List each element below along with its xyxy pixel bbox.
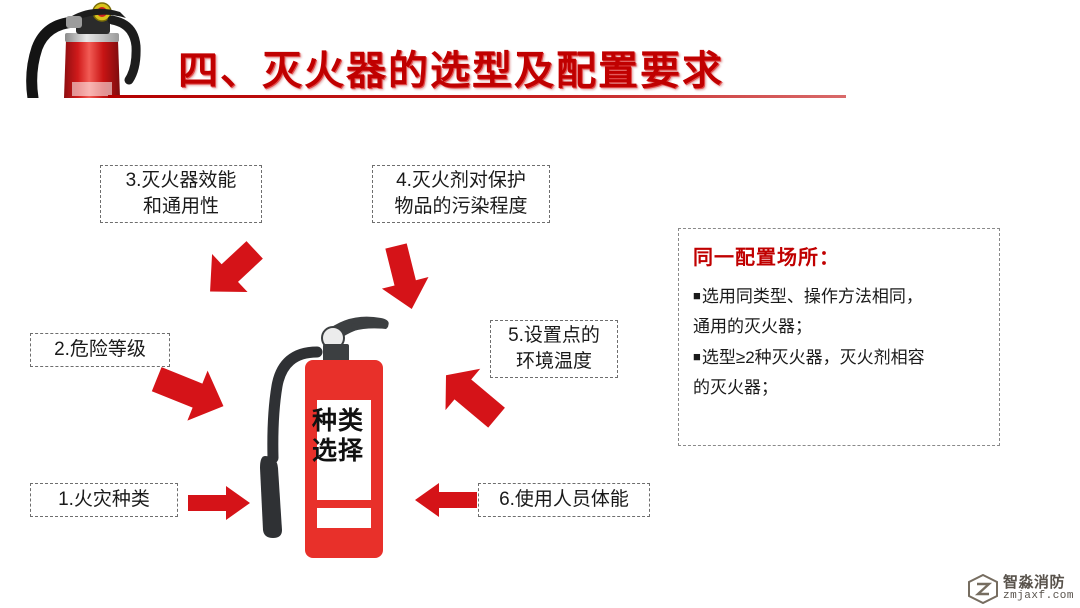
factor-box-4[interactable]: 4.灭火剂对保护 物品的污染程度 xyxy=(372,165,550,223)
note-panel: 同一配置场所： ■选用同类型、操作方法相同， 通用的灭火器； ■选型≥2种灭火器… xyxy=(678,228,1000,446)
page-title: 四、灭火器的选型及配置要求 xyxy=(178,38,724,96)
note-bullet-2-cont: 的灭火器； xyxy=(693,373,985,403)
slide-canvas: 四、灭火器的选型及配置要求 3.灭火器效能 和通用性 4.灭火剂对保护 物品的污… xyxy=(0,0,1080,608)
watermark-brand-name: 智淼消防 xyxy=(1003,575,1074,591)
factor-box-3[interactable]: 3.灭火器效能 和通用性 xyxy=(100,165,262,223)
title-underline-rule xyxy=(108,95,846,98)
watermark-url: zmjaxf.com xyxy=(1003,591,1074,603)
central-extinguisher-graphic xyxy=(255,308,415,563)
factor-box-6[interactable]: 6.使用人员体能 xyxy=(478,483,650,517)
watermark: 智淼消防 zmjaxf.com xyxy=(968,574,1074,604)
note-bullet-1: ■选用同类型、操作方法相同， xyxy=(693,281,985,312)
arrow-down-left-from-box5 xyxy=(435,365,505,431)
factor-box-2[interactable]: 2.危险等级 xyxy=(30,333,170,367)
arrow-down-left-from-box4 xyxy=(372,243,436,313)
factor-box-5[interactable]: 5.设置点的 环境温度 xyxy=(490,320,618,378)
note-bullet-1-cont: 通用的灭火器； xyxy=(693,312,985,342)
note-panel-title: 同一配置场所： xyxy=(693,241,985,270)
bullet-square-icon-2: ■ xyxy=(693,349,701,364)
brand-logo-icon xyxy=(968,574,998,604)
header-extinguisher-photo xyxy=(8,0,176,98)
arrow-down-right-from-box3 xyxy=(196,238,268,304)
arrow-right-down-from-box2 xyxy=(152,362,230,424)
arrow-right-from-box1 xyxy=(186,484,252,522)
note-bullet-1-line-1: 选用同类型、操作方法相同， xyxy=(702,287,923,306)
note-bullet-2: ■选型≥2种灭火器，灭火剂相容 xyxy=(693,342,985,373)
bullet-square-icon: ■ xyxy=(693,288,701,303)
arrow-left-from-box6 xyxy=(413,481,479,519)
factor-box-1[interactable]: 1.火灾种类 xyxy=(30,483,178,517)
watermark-text: 智淼消防 zmjaxf.com xyxy=(1003,575,1074,602)
note-bullet-2-line-1: 选型≥2种灭火器，灭火剂相容 xyxy=(702,348,925,367)
